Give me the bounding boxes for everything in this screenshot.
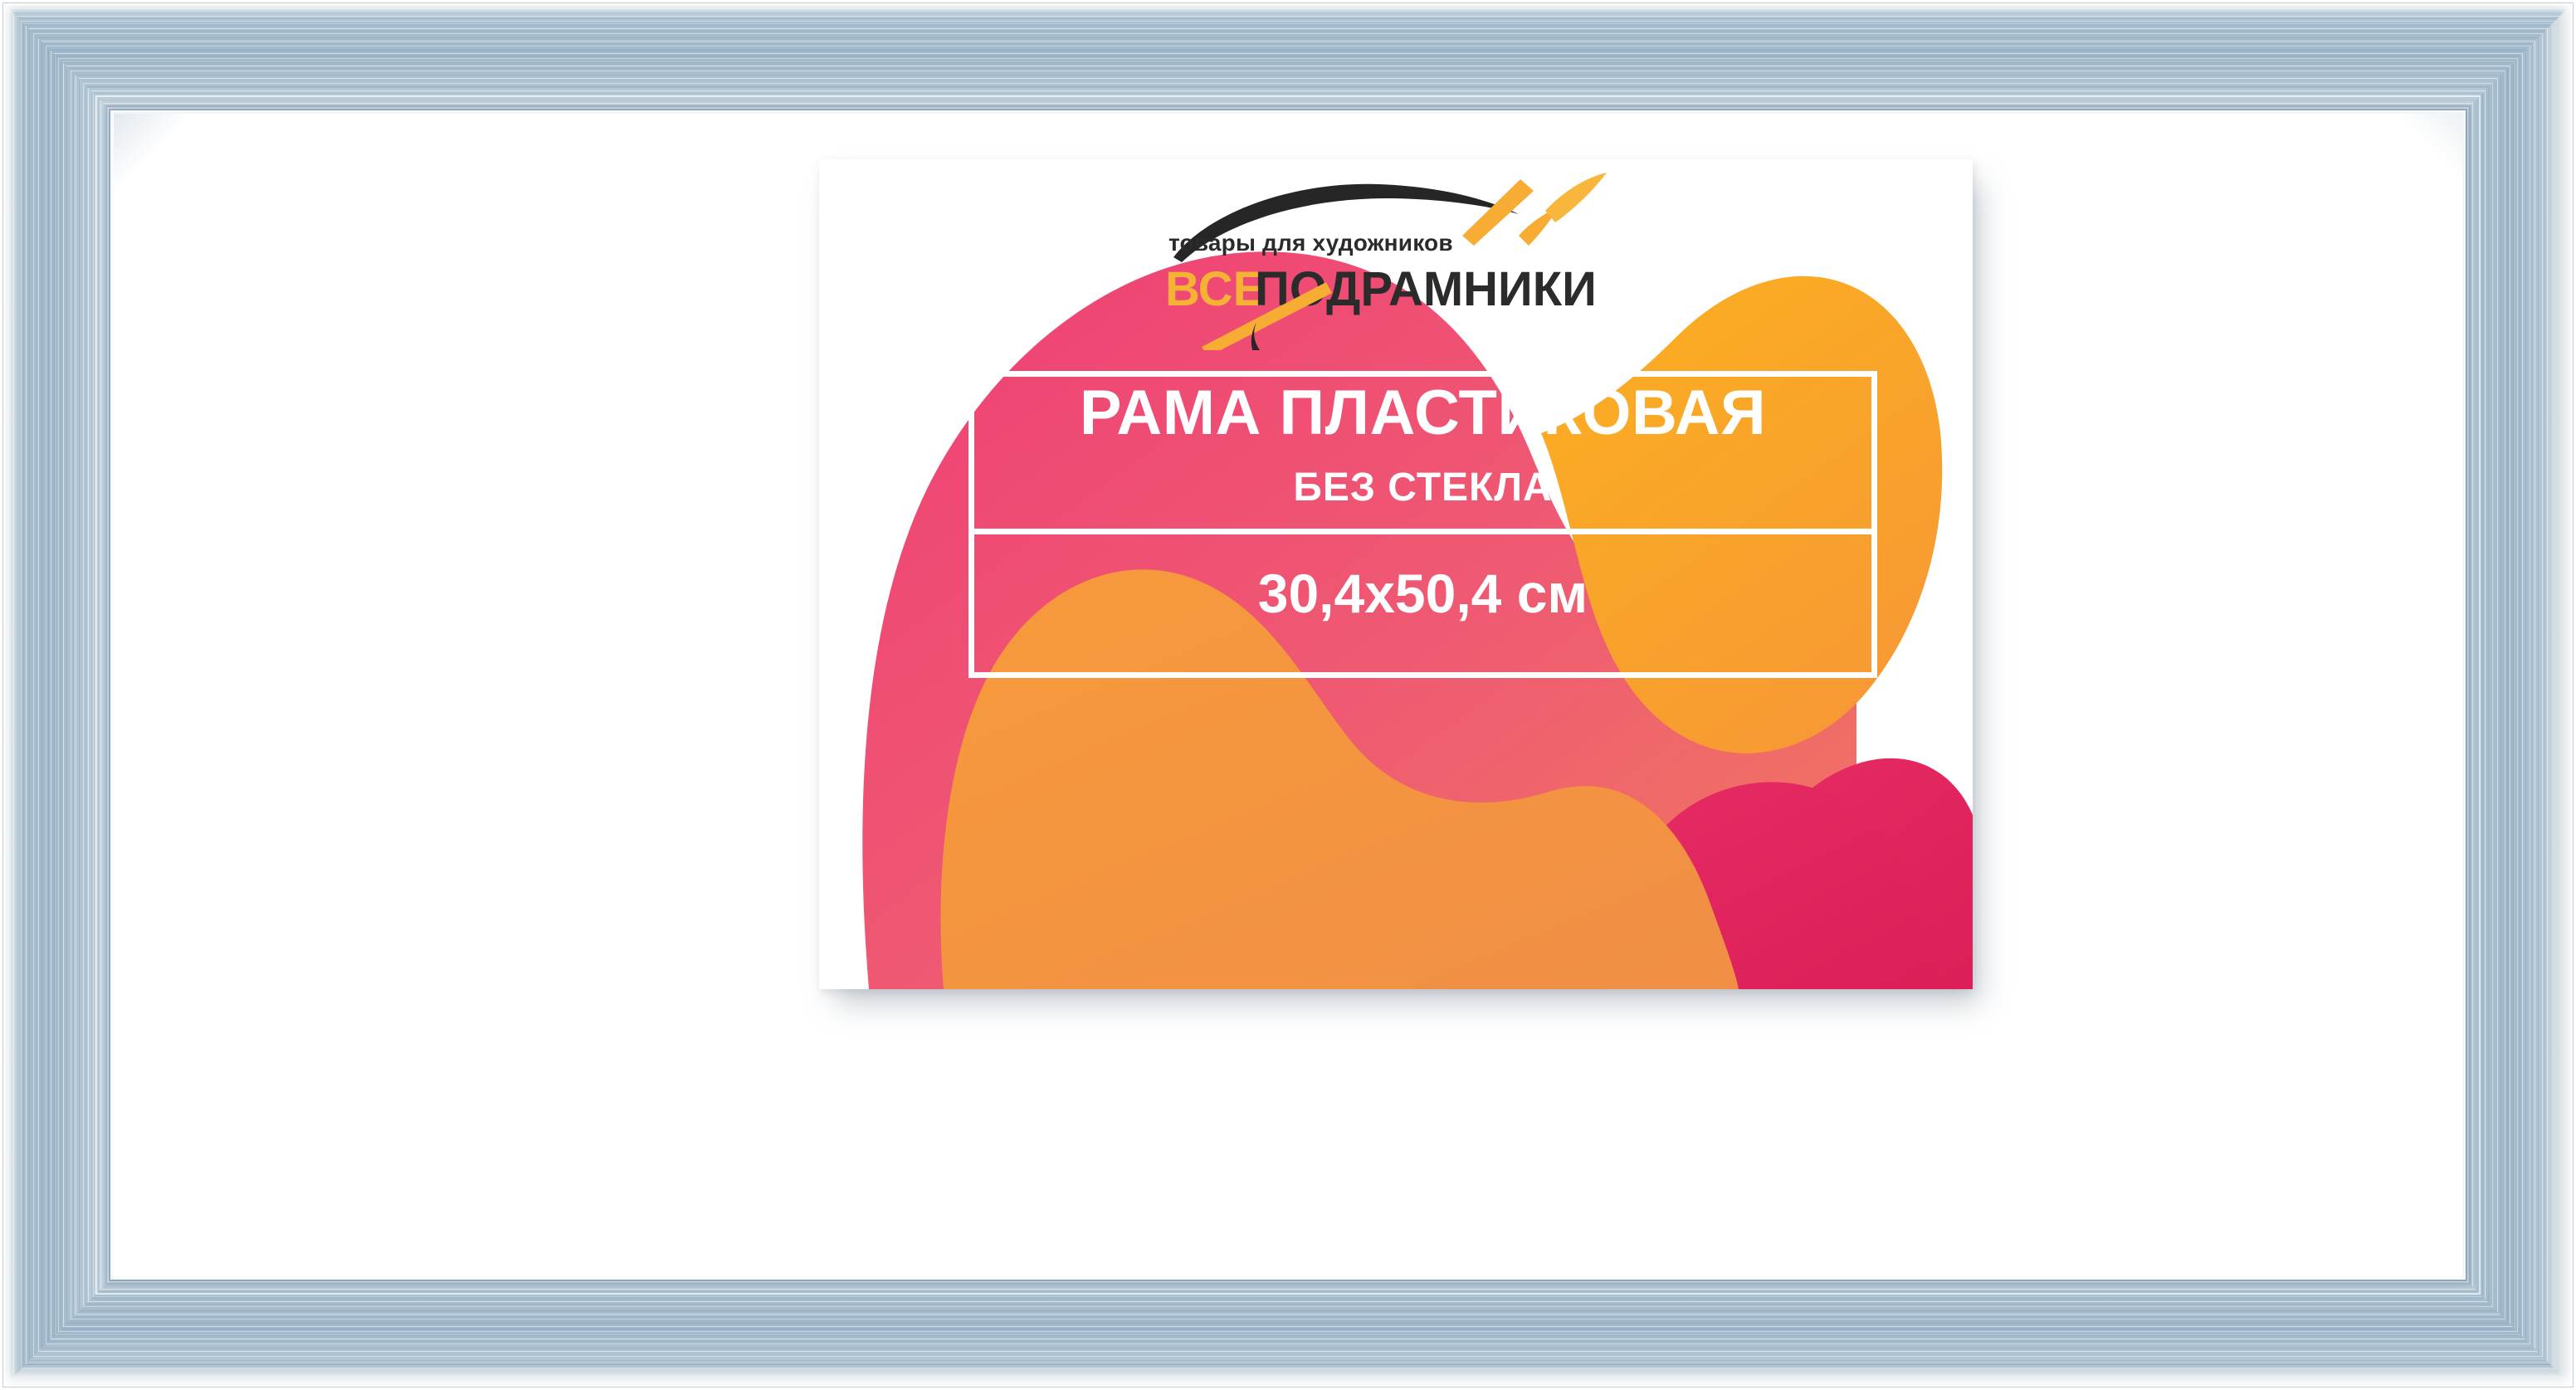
logo-brand-all: ВСЕ [1165, 262, 1265, 316]
label-subtitle: БЕЗ СТЕКЛА [968, 468, 1877, 508]
frame-mat-area: товары для художников ВСЕ ПОДРАМНИКИ РАМ… [114, 114, 2462, 1276]
frame-rail-bottom [3, 1276, 2573, 1387]
frame-rail-right [2462, 3, 2573, 1387]
product-label-card: товары для художников ВСЕ ПОДРАМНИКИ РАМ… [819, 159, 1973, 989]
picture-frame: товары для художников ВСЕ ПОДРАМНИКИ РАМ… [3, 3, 2573, 1387]
frame-rail-left [3, 3, 114, 1387]
swoosh-bottom-icon [1251, 322, 1492, 350]
frame-texture-right [2462, 3, 2573, 1387]
frame-texture-top [3, 3, 2573, 114]
frame-rail-top [3, 3, 2573, 114]
frame-texture-bottom [3, 1276, 2573, 1387]
logo-tagline: товары для художников [1168, 230, 1453, 256]
label-title: РАМА ПЛАСТИКОВАЯ [968, 382, 1877, 445]
logo-brand-podramniki: ПОДРАМНИКИ [1255, 262, 1597, 316]
brush-tip-icon [1545, 173, 1607, 222]
frame-texture-left [3, 3, 114, 1387]
product-photo-canvas: товары для художников ВСЕ ПОДРАМНИКИ РАМ… [0, 0, 2576, 1390]
brand-logo: товары для художников ВСЕ ПОДРАМНИКИ [819, 159, 1973, 354]
label-size: 30,4x50,4 см [968, 566, 1877, 621]
